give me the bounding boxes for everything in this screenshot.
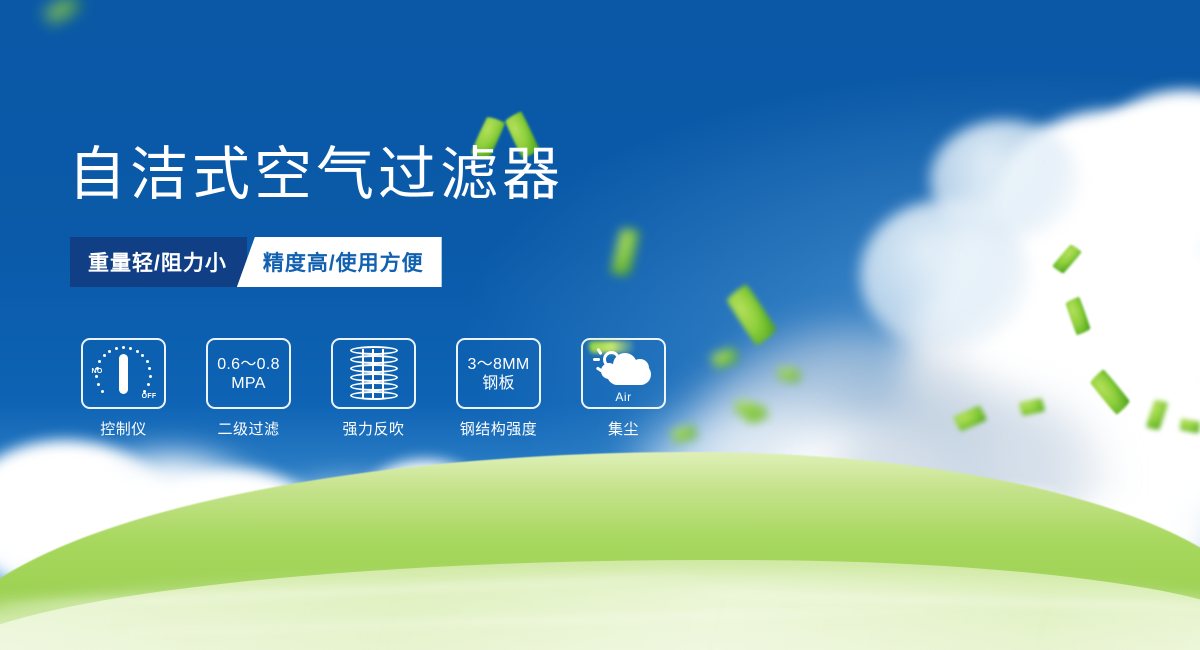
feature-item-backblow[interactable]: 强力反吹 — [331, 338, 416, 439]
gauge-label-off: OFF — [142, 393, 157, 400]
feature-label: 二级过滤 — [217, 418, 279, 439]
feature-label: 集尘 — [608, 418, 639, 439]
feature-value-line1: 0.6～0.8 — [217, 355, 280, 374]
feature-icon-box — [331, 338, 416, 409]
tag-highprecision-easyuse: 精度高/使用方便 — [237, 237, 442, 287]
gauge-label-no: NO — [92, 368, 103, 375]
banner-stage: 自洁式空气过滤器 重量轻/阻力小 精度高/使用方便 — [0, 0, 1200, 650]
air-label: Air — [593, 390, 655, 404]
feature-value-line2: MPA — [217, 374, 280, 393]
feature-icon-box: 0.6～0.8 MPA — [206, 338, 291, 409]
coil-filter-icon — [350, 346, 398, 402]
page-title: 自洁式空气过滤器 — [68, 145, 564, 203]
tag-row: 重量轻/阻力小 精度高/使用方便 — [70, 237, 442, 287]
gauge-icon: NO OFF — [93, 346, 155, 402]
tag-lightweight-lowresistance: 重量轻/阻力小 — [70, 237, 247, 287]
feature-value-line2: 钢板 — [468, 374, 530, 393]
feature-icon-box: 3～8MM 钢板 — [456, 338, 541, 409]
feature-item-steel[interactable]: 3～8MM 钢板 钢结构强度 — [456, 338, 541, 439]
feature-item-pressure[interactable]: 0.6～0.8 MPA 二级过滤 — [206, 338, 291, 439]
feature-label: 强力反吹 — [342, 418, 404, 439]
cloud-air-icon: Air — [593, 347, 655, 401]
feature-row: NO OFF 控制仪 0.6～0.8 MPA 二级过滤 — [81, 338, 666, 439]
feature-item-dustcollection[interactable]: Air 集尘 — [581, 338, 666, 439]
feature-label: 控制仪 — [100, 418, 147, 439]
feature-value-line1: 3～8MM — [468, 355, 530, 374]
feature-icon-box: Air — [581, 338, 666, 409]
feature-value: 0.6～0.8 MPA — [217, 355, 280, 393]
feature-icon-box: NO OFF — [81, 338, 166, 409]
feature-label: 钢结构强度 — [460, 418, 538, 439]
feature-value: 3～8MM 钢板 — [468, 355, 530, 393]
feature-item-controller[interactable]: NO OFF 控制仪 — [81, 338, 166, 439]
